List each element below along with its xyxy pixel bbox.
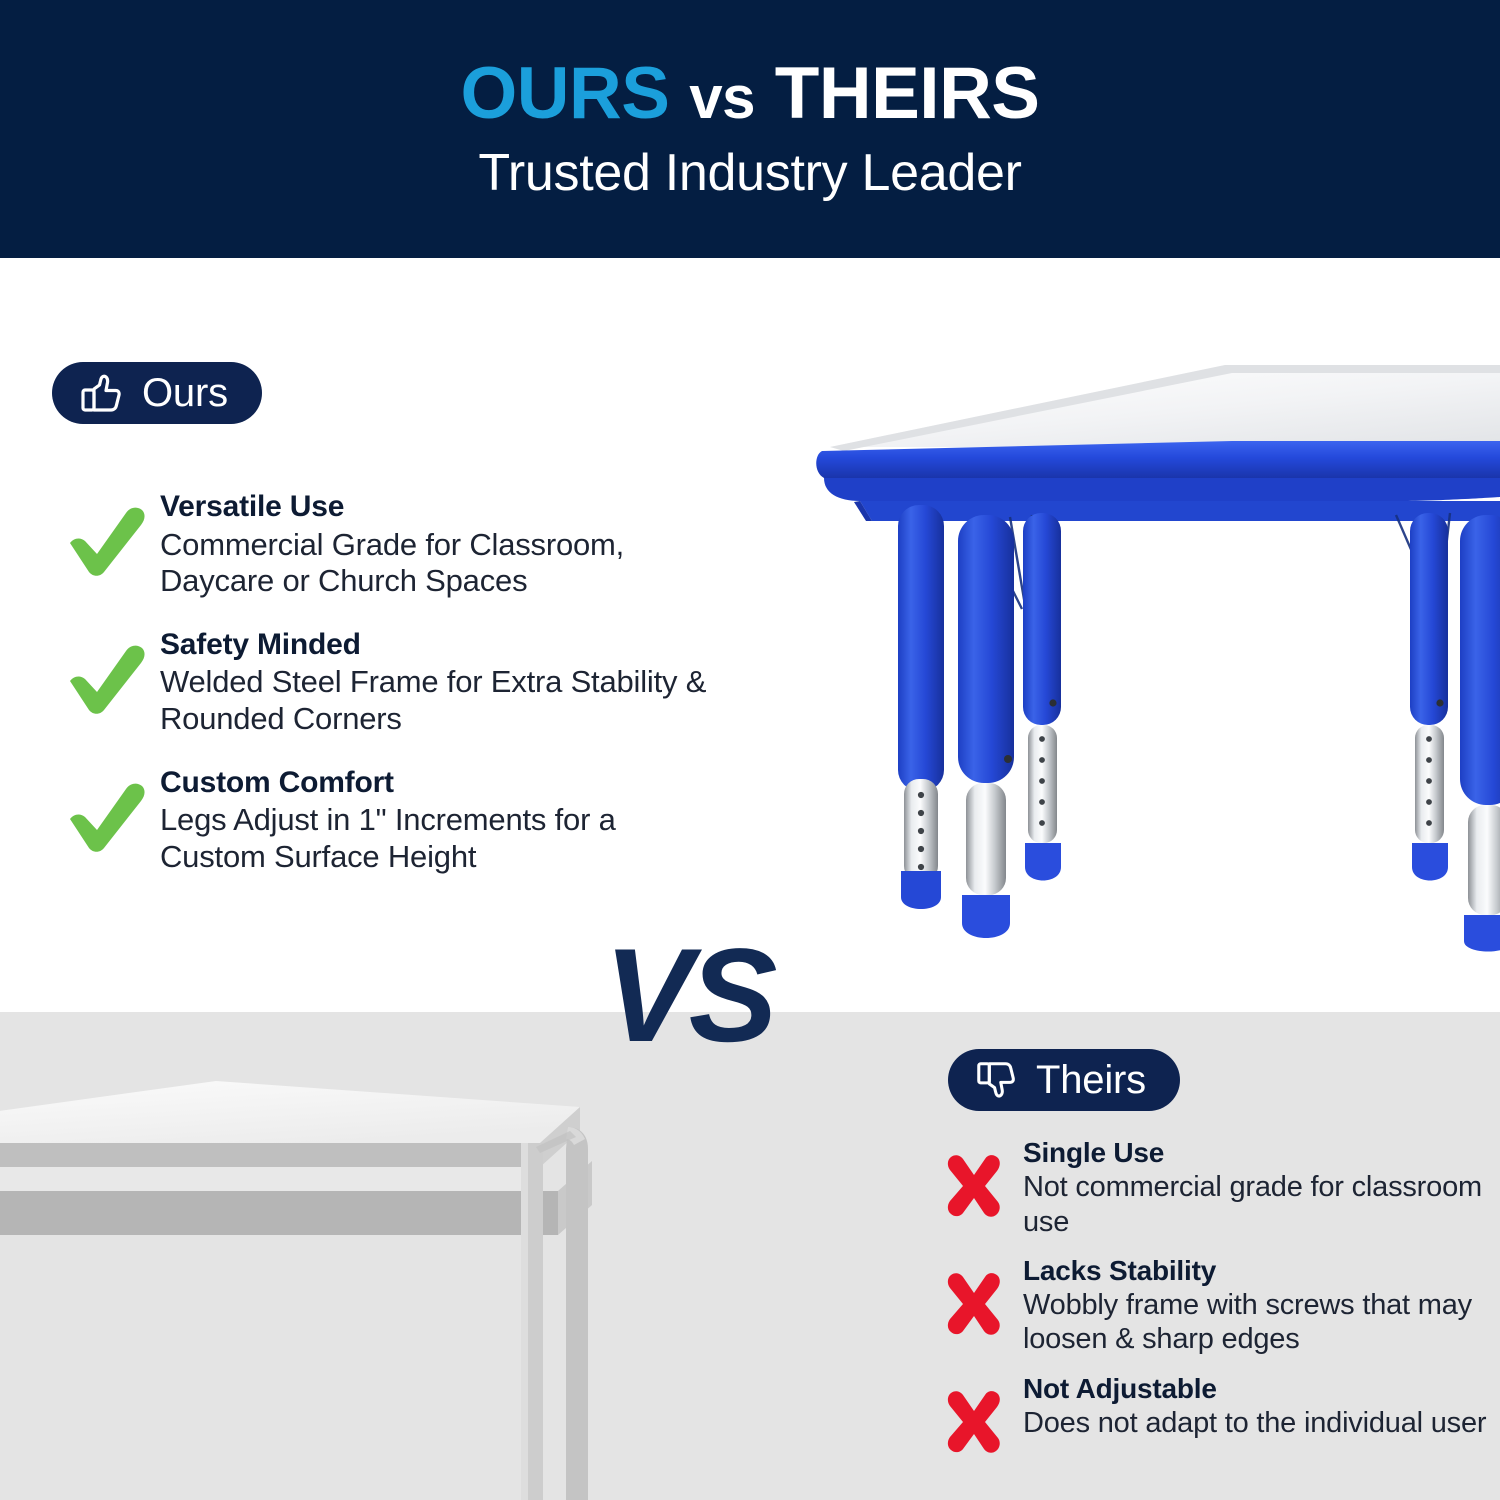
feature-title: Versatile Use (160, 490, 710, 524)
list-item: Versatile Use Commercial Grade for Class… (50, 488, 710, 600)
feature-title: Single Use (1023, 1137, 1500, 1168)
green-check-icon (50, 488, 160, 592)
table-leg-inner-left (1023, 513, 1061, 881)
title-ours: OURS (461, 53, 670, 134)
comparison-infographic: OURS vs THEIRS Trusted Industry Leader (0, 0, 1500, 1500)
title-theirs: THEIRS (775, 53, 1040, 134)
ours-product-image (800, 355, 1500, 955)
thumbs-up-icon (78, 371, 124, 415)
list-item-text: Lacks Stability Wobbly frame with screws… (1023, 1253, 1500, 1357)
list-item: Lacks Stability Wobbly frame with screws… (925, 1253, 1500, 1357)
feature-description: Welded Steel Frame for Extra Stability &… (160, 664, 710, 737)
table-leg-back-left (898, 505, 944, 909)
table-leg-front-right (1460, 515, 1500, 952)
list-item: Custom Comfort Legs Adjust in 1" Increme… (50, 764, 710, 876)
vs-divider-label: VS (604, 930, 773, 1063)
feature-description: Legs Adjust in 1" Increments for a Custo… (160, 802, 710, 875)
feature-title: Not Adjustable (1023, 1373, 1500, 1404)
theirs-badge-label: Theirs (1036, 1060, 1146, 1100)
title-vs: vs (689, 64, 755, 131)
green-check-icon (50, 626, 160, 730)
ours-feature-list: Versatile Use Commercial Grade for Class… (50, 488, 710, 875)
list-item-text: Not Adjustable Does not adapt to the ind… (1023, 1371, 1500, 1441)
green-check-icon (50, 764, 160, 868)
list-item-text: Safety Minded Welded Steel Frame for Ext… (160, 626, 710, 738)
red-x-icon (925, 1371, 1023, 1471)
list-item-text: Versatile Use Commercial Grade for Class… (160, 488, 710, 600)
feature-description: Not commercial grade for classroom use (1023, 1170, 1500, 1238)
list-item-text: Custom Comfort Legs Adjust in 1" Increme… (160, 764, 710, 876)
red-x-icon (925, 1135, 1023, 1235)
thumbs-down-icon (974, 1058, 1018, 1102)
feature-title: Custom Comfort (160, 766, 710, 800)
table-leg-inner-right (1410, 513, 1448, 881)
theirs-feature-list: Single Use Not commercial grade for clas… (925, 1135, 1500, 1471)
list-item: Safety Minded Welded Steel Frame for Ext… (50, 626, 710, 738)
feature-description: Does not adapt to the individual user (1023, 1406, 1500, 1440)
list-item: Not Adjustable Does not adapt to the ind… (925, 1371, 1500, 1471)
blue-table-illustration (800, 355, 1500, 955)
ours-badge-label: Ours (142, 373, 228, 413)
feature-title: Safety Minded (160, 628, 710, 662)
feature-description: Wobbly frame with screws that may loosen… (1023, 1288, 1500, 1356)
feature-title: Lacks Stability (1023, 1255, 1500, 1286)
gray-table-illustration (0, 1055, 620, 1500)
page-subtitle: Trusted Industry Leader (478, 146, 1021, 201)
theirs-badge: Theirs (948, 1049, 1180, 1111)
ours-badge: Ours (52, 362, 262, 424)
theirs-product-image (0, 1055, 620, 1500)
feature-description: Commercial Grade for Classroom, Daycare … (160, 527, 710, 600)
table-leg-front-left (958, 515, 1014, 938)
page-title: OURS vs THEIRS (461, 57, 1040, 130)
list-item-text: Single Use Not commercial grade for clas… (1023, 1135, 1500, 1239)
list-item: Single Use Not commercial grade for clas… (925, 1135, 1500, 1239)
header-banner: OURS vs THEIRS Trusted Industry Leader (0, 0, 1500, 258)
red-x-icon (925, 1253, 1023, 1353)
